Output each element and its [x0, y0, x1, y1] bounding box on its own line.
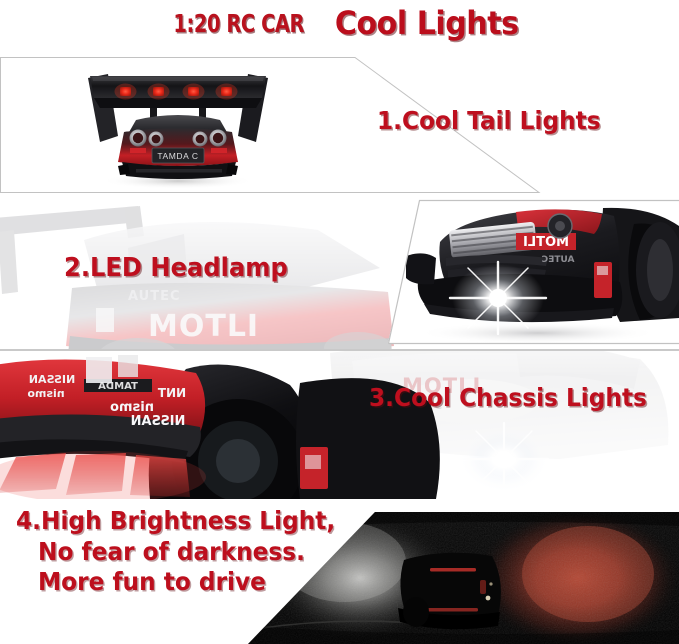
- panel-4-heading-line-3: More fun to drive: [38, 567, 337, 598]
- panel-3-heading: 3.Cool Chassis Lights: [369, 383, 647, 412]
- svg-text:nismo: nismo: [110, 400, 154, 415]
- panel-3-image: MOTLI AUTEC NISSAN: [0, 349, 679, 499]
- svg-text:NISSAN: NISSAN: [131, 414, 186, 429]
- svg-text:NNT: NNT: [157, 386, 186, 400]
- panel-2-heading: 2.LED Headlamp: [64, 253, 288, 283]
- panel-4-heading-line-2: No fear of darkness.: [38, 537, 337, 568]
- page-title: 1:20 RC CAR Cool Lights: [0, 0, 679, 46]
- svg-text:AUTEC: AUTEC: [128, 289, 181, 304]
- title-part-feature: Cool Lights: [334, 4, 518, 42]
- panel-1-image: TAMDA C: [78, 62, 278, 190]
- panel-1-heading: 1.Cool Tail Lights: [377, 106, 601, 135]
- panel-2-watermark-image: MOTLI AUTEC: [0, 196, 408, 371]
- title-part-model: 1:20 RC CAR: [173, 9, 304, 38]
- svg-text:MOTLI: MOTLI: [148, 309, 259, 344]
- svg-text:nismo: nismo: [27, 387, 65, 400]
- svg-text:TAMDA C: TAMDA C: [157, 151, 198, 161]
- svg-text:NISSAN: NISSAN: [29, 373, 75, 386]
- panel-3-top-divider: [0, 349, 679, 351]
- product-infographic: 1:20 RC CAR Cool Lights: [0, 0, 679, 644]
- panel-4-heading-line-1: 4.High Brightness Light,: [16, 506, 335, 537]
- panel-4-heading-block: 4.High Brightness Light, No fear of dark…: [16, 506, 359, 598]
- panel-2-frame: [360, 198, 679, 346]
